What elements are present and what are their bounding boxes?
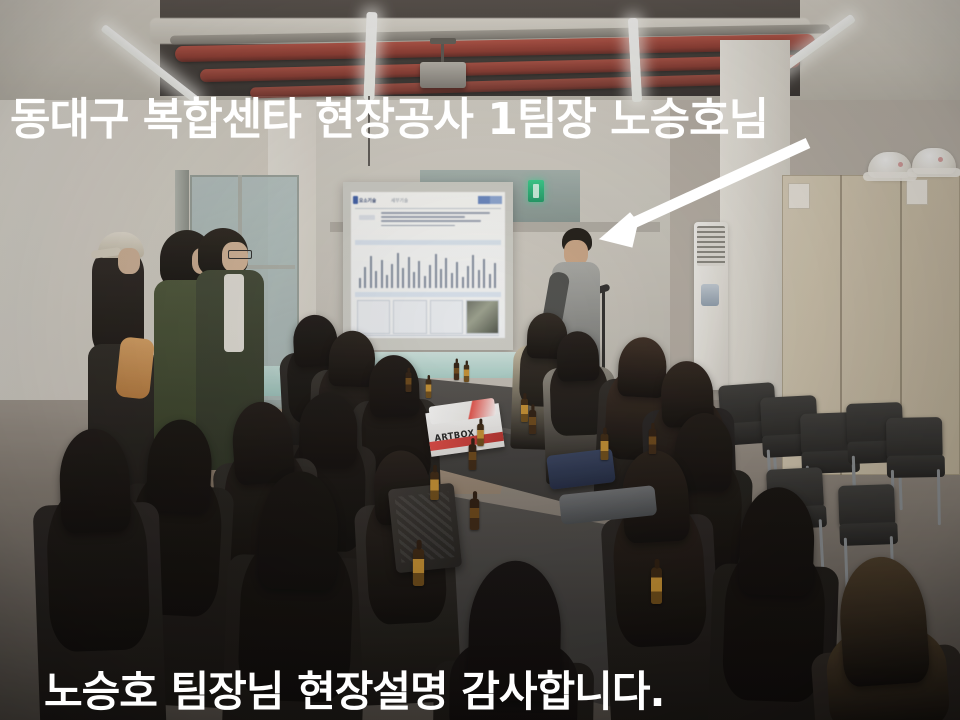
beverage-bottle [651,567,662,604]
photo-canvas: 요소기술 세부기술 [0,0,960,720]
beverage-bottle [529,410,536,434]
beverage-bottle [470,499,479,531]
beverage-bottle [469,444,477,470]
caption-bottom: 노승호 팀장님 현장설명 감사합니다. [0,666,960,718]
caption-top: 동대구 복합센타 현장공사 1팀장 노승호님 [0,92,960,148]
beverage-bottle [649,429,657,454]
beverage-bottle [464,365,469,382]
beverage-bottle [601,434,609,460]
beverage-bottle [477,424,484,446]
beverage-bottle [521,399,528,422]
beverage-bottle [430,472,439,501]
beverage-bottle [426,379,432,398]
beverage-bottle [406,372,412,392]
beverage-bottle [413,549,424,587]
beverage-bottle [454,363,459,380]
